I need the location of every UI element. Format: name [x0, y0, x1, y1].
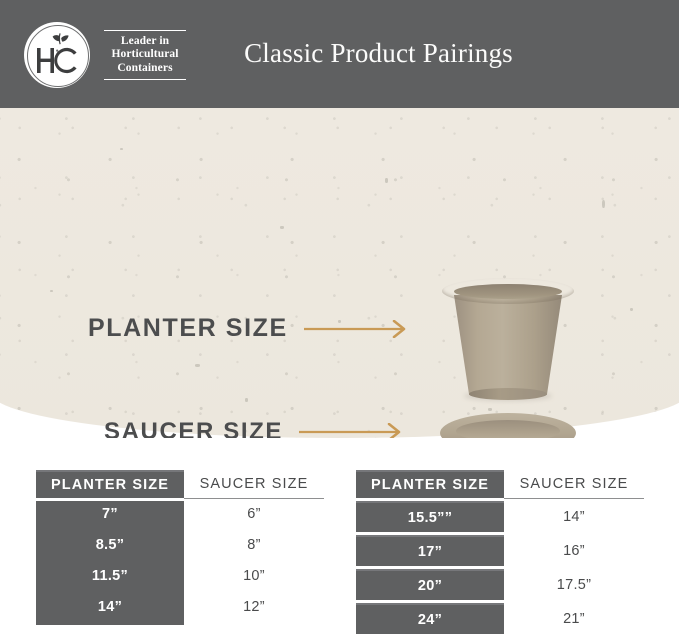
header-bar: Leader in Horticultural Containers Class… [0, 0, 679, 108]
hc-monogram-with-leaf-icon [29, 29, 85, 81]
saucer-illustration [440, 413, 576, 438]
right-arrow-icon [304, 320, 414, 338]
table-header-row: PLANTER SIZE SAUCER SIZE [36, 470, 324, 498]
table-row: 7” 6” [36, 498, 324, 529]
planter-pot-illustration [442, 278, 574, 400]
size-pairing-tables: PLANTER SIZE SAUCER SIZE 7” 6” 8.5” 8” 1… [0, 470, 679, 636]
cell-planter-size: 17” [356, 535, 504, 566]
cell-saucer-size: 8” [184, 529, 324, 560]
pot-rim-inner [454, 284, 562, 299]
header-underline [504, 498, 644, 499]
planter-size-label: PLANTER SIZE [88, 314, 288, 343]
saucer-size-callout: SAUCER SIZE [104, 418, 409, 438]
table-body: 15.5”” 14” 17” 16” 20” 17.5” 24” 21” [356, 501, 644, 634]
table-body: 7” 6” 8.5” 8” 11.5” 10” 14” 12” [36, 498, 324, 622]
cell-planter-size: 8.5” [36, 529, 184, 560]
size-table-small: PLANTER SIZE SAUCER SIZE 7” 6” 8.5” 8” 1… [36, 470, 324, 622]
cell-saucer-size: 14” [504, 501, 644, 532]
cell-saucer-size: 6” [184, 498, 324, 529]
pot-base [469, 388, 547, 400]
table-row: 14” 12” [36, 591, 324, 622]
cell-saucer-size: 21” [504, 603, 644, 634]
column-header-planter-size: PLANTER SIZE [36, 470, 184, 498]
table-row: 11.5” 10” [36, 560, 324, 591]
table-row: 20” 17.5” [356, 569, 644, 600]
table-row: 17” 16” [356, 535, 644, 566]
cell-planter-size: 14” [36, 591, 184, 622]
cell-saucer-size: 10” [184, 560, 324, 591]
saucer-basin [456, 420, 560, 438]
saucer-size-label: SAUCER SIZE [104, 418, 283, 438]
table-header-row: PLANTER SIZE SAUCER SIZE [356, 470, 644, 498]
table-row: 15.5”” 14” [356, 501, 644, 532]
cell-planter-size: 15.5”” [356, 501, 504, 532]
hero-illustration-panel: PLANTER SIZE SAUCER SIZE [0, 108, 679, 438]
cell-planter-size: 7” [36, 498, 184, 529]
cell-saucer-size: 17.5” [504, 569, 644, 600]
column-header-saucer-size: SAUCER SIZE [184, 470, 324, 498]
cell-saucer-size: 12” [184, 591, 324, 622]
page-title: Classic Product Pairings [0, 38, 679, 69]
table-row: 8.5” 8” [36, 529, 324, 560]
cell-planter-size: 20” [356, 569, 504, 600]
column-header-saucer-size: SAUCER SIZE [504, 470, 644, 498]
infographic-page: Leader in Horticultural Containers Class… [0, 0, 679, 636]
logo-circle-mark [24, 22, 90, 88]
textured-background [0, 108, 679, 438]
cell-planter-size: 11.5” [36, 560, 184, 591]
planter-size-callout: PLANTER SIZE [88, 314, 414, 343]
cell-saucer-size: 16” [504, 535, 644, 566]
column-header-planter-size: PLANTER SIZE [356, 470, 504, 498]
cell-planter-size: 24” [356, 603, 504, 634]
right-arrow-icon [299, 423, 409, 438]
size-table-large: PLANTER SIZE SAUCER SIZE 15.5”” 14” 17” … [356, 470, 644, 634]
pot-body [454, 295, 562, 395]
table-row: 24” 21” [356, 603, 644, 634]
